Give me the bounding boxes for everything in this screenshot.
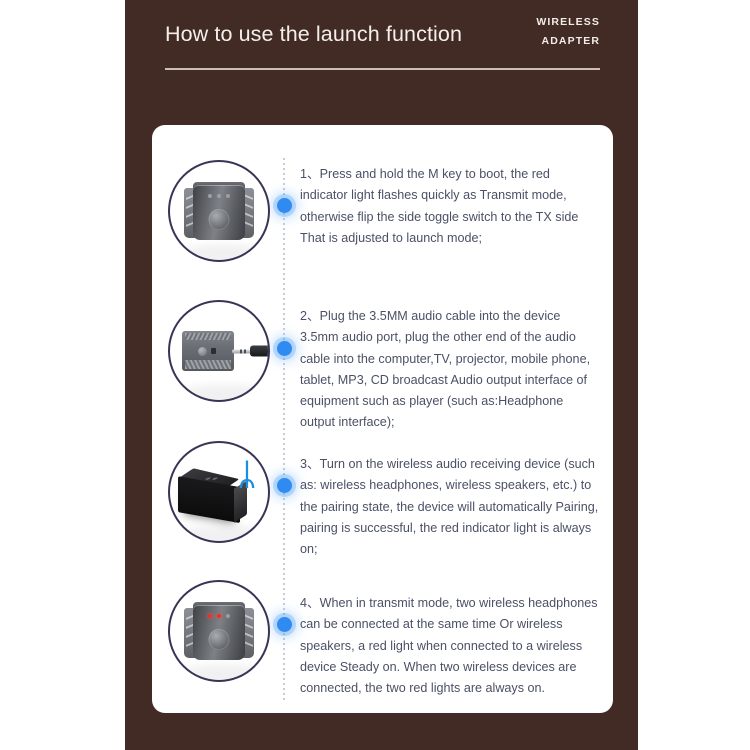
plug-tip	[232, 349, 252, 353]
page-title: How to use the launch function	[165, 22, 462, 47]
page-root: How to use the launch function WIRELESS …	[0, 0, 750, 750]
bluetooth-icon: ᛦ	[234, 462, 260, 492]
step-1-text: 1、Press and hold the M key to boot, the …	[300, 164, 600, 249]
step-1-image-transmitter-front-view	[168, 160, 270, 262]
transmitter-device-icon-lit	[184, 601, 254, 661]
timeline-node-1	[277, 198, 292, 213]
device-red-led-indicators	[208, 614, 230, 618]
device-side-button	[198, 347, 207, 356]
brand-line-2: ADAPTER	[470, 32, 600, 51]
step-3-text: 3、Turn on the wireless audio receiving d…	[300, 454, 600, 560]
timeline-node-3	[277, 478, 292, 493]
device-audio-port	[211, 348, 216, 354]
header: How to use the launch function WIRELESS …	[125, 0, 638, 90]
transmitter-side-view-icon	[182, 331, 234, 371]
device-side-body	[182, 331, 234, 371]
header-divider	[165, 68, 600, 70]
audio-cable-plug-icon	[232, 346, 270, 357]
timeline-node-2	[277, 341, 292, 356]
brand-label: WIRELESS ADAPTER	[470, 13, 600, 51]
brand-line-1: WIRELESS	[470, 13, 600, 32]
device-m-button	[209, 209, 230, 230]
transmitter-device-icon	[184, 181, 254, 241]
step-3-image-bluetooth-speaker: ᛦ	[168, 441, 270, 543]
step-4-image-transmitter-two-red-leds	[168, 580, 270, 682]
device-m-button	[209, 629, 230, 650]
device-indicator-dots	[208, 194, 230, 198]
bluetooth-speaker-icon: ᛦ	[176, 462, 262, 528]
step-2-image-transmitter-with-3-5mm-plug	[168, 300, 270, 402]
timeline-node-4	[277, 617, 292, 632]
step-4-text: 4、When in transmit mode, two wireless he…	[300, 593, 600, 699]
step-2-text: 2、Plug the 3.5MM audio cable into the de…	[300, 306, 600, 434]
plug-barrel	[250, 346, 270, 357]
